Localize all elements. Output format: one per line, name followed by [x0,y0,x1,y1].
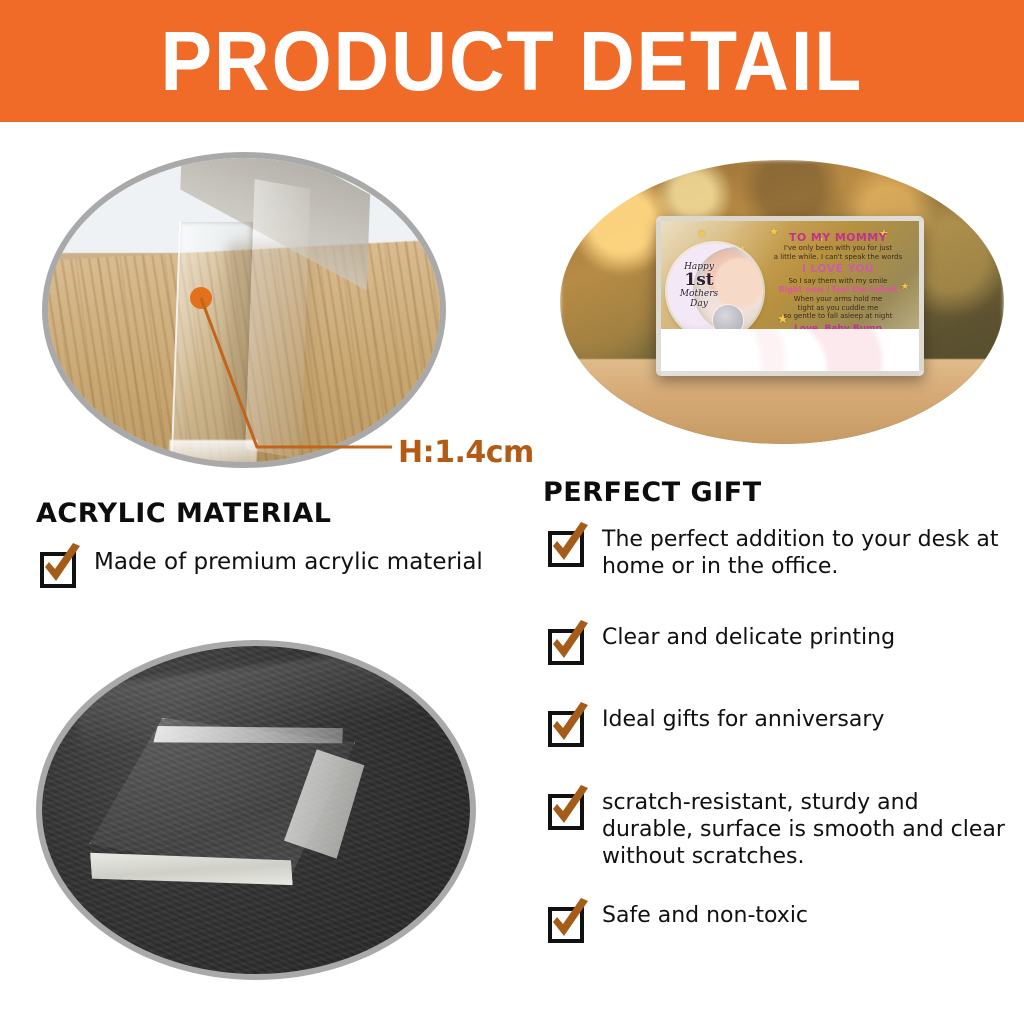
acrylic-block [81,705,367,933]
checkbox-checked[interactable] [548,711,584,747]
feature-item: The perfect addition to your desk at hom… [548,527,1012,581]
checkbox-checked[interactable] [548,794,584,830]
feature-label: Made of premium acrylic material [94,548,483,576]
slab-side-face [245,179,310,459]
plaque-title: TO MY MOMMY [763,231,913,244]
feature-label: Ideal gifts for anniversary [602,707,884,734]
feature-item: Safe and non-toxic [548,903,808,943]
feature-item: Clear and delicate printing [548,625,895,665]
plaque-poem-line-2: a little while. I can't speak the words [763,253,913,262]
slab-bottom-edge [169,440,258,466]
thickness-label: H:1.4cm [398,435,534,470]
moon-line-2: 1st [671,272,727,290]
page-title: PRODUCT DETAIL [161,19,864,103]
acrylic-slab-standing [171,162,309,462]
feature-label: Safe and non-toxic [602,903,808,930]
plaque-poem-line-1: I've only been with you for just [763,244,913,253]
plaque-poem-line-3: So I say them with my smile [763,277,913,286]
feature-label: scratch-resistant, sturdy and durable, s… [602,790,1012,870]
feature-label: The perfect addition to your desk at hom… [602,527,1012,581]
checkmark-icon [547,898,593,944]
plaque-love-line: I LOVE YOU [763,262,913,275]
plaque-message: TO MY MOMMY I've only been with you for … [763,231,913,335]
feature-item: Ideal gifts for anniversary [548,707,884,747]
moon-photo-frame: Happy 1st Mothers Day [667,243,763,339]
product-photo-edge-view [42,152,446,468]
section-heading-perfect-gift: PERFECT GIFT [543,477,762,508]
cloud-decoration [656,329,924,376]
acrylic-plaque: ★ ★ ★ ★ ★ ★ ★ ★ Happy 1st Mothers Day TO… [656,216,924,376]
checkbox-checked[interactable] [548,907,584,943]
feature-item: Made of premium acrylic material [40,548,483,588]
plaque-poem-line-6: tight as you cuddle me [763,304,913,313]
moon-greeting: Happy 1st Mothers Day [671,263,727,309]
product-photo-plaque-view: ★ ★ ★ ★ ★ ★ ★ ★ Happy 1st Mothers Day TO… [560,160,1004,444]
checkbox-checked[interactable] [548,531,584,567]
header-banner: PRODUCT DETAIL [0,0,1024,122]
checkmark-icon [547,702,593,748]
star-icon: ★ [697,227,707,240]
slab-front-face [171,222,253,462]
section-heading-acrylic-material: ACRYLIC MATERIAL [36,498,332,529]
checkmark-icon [39,543,85,589]
feature-item: scratch-resistant, sturdy and durable, s… [548,790,1012,870]
plaque-poem-line-5: When your arms hold me [763,295,913,304]
product-photo-block-view [36,640,476,980]
feature-label: Clear and delicate printing [602,625,895,652]
checkmark-icon [547,620,593,666]
thickness-marker-dot [190,287,212,309]
plaque-poem-line-7: so gentle to fall asleep at night [763,312,913,321]
checkmark-icon [547,522,593,568]
plaque-poem-line-4: Right now I feel the safest [763,285,913,295]
checkbox-checked[interactable] [40,552,76,588]
checkmark-icon [547,785,593,831]
checkbox-checked[interactable] [548,629,584,665]
